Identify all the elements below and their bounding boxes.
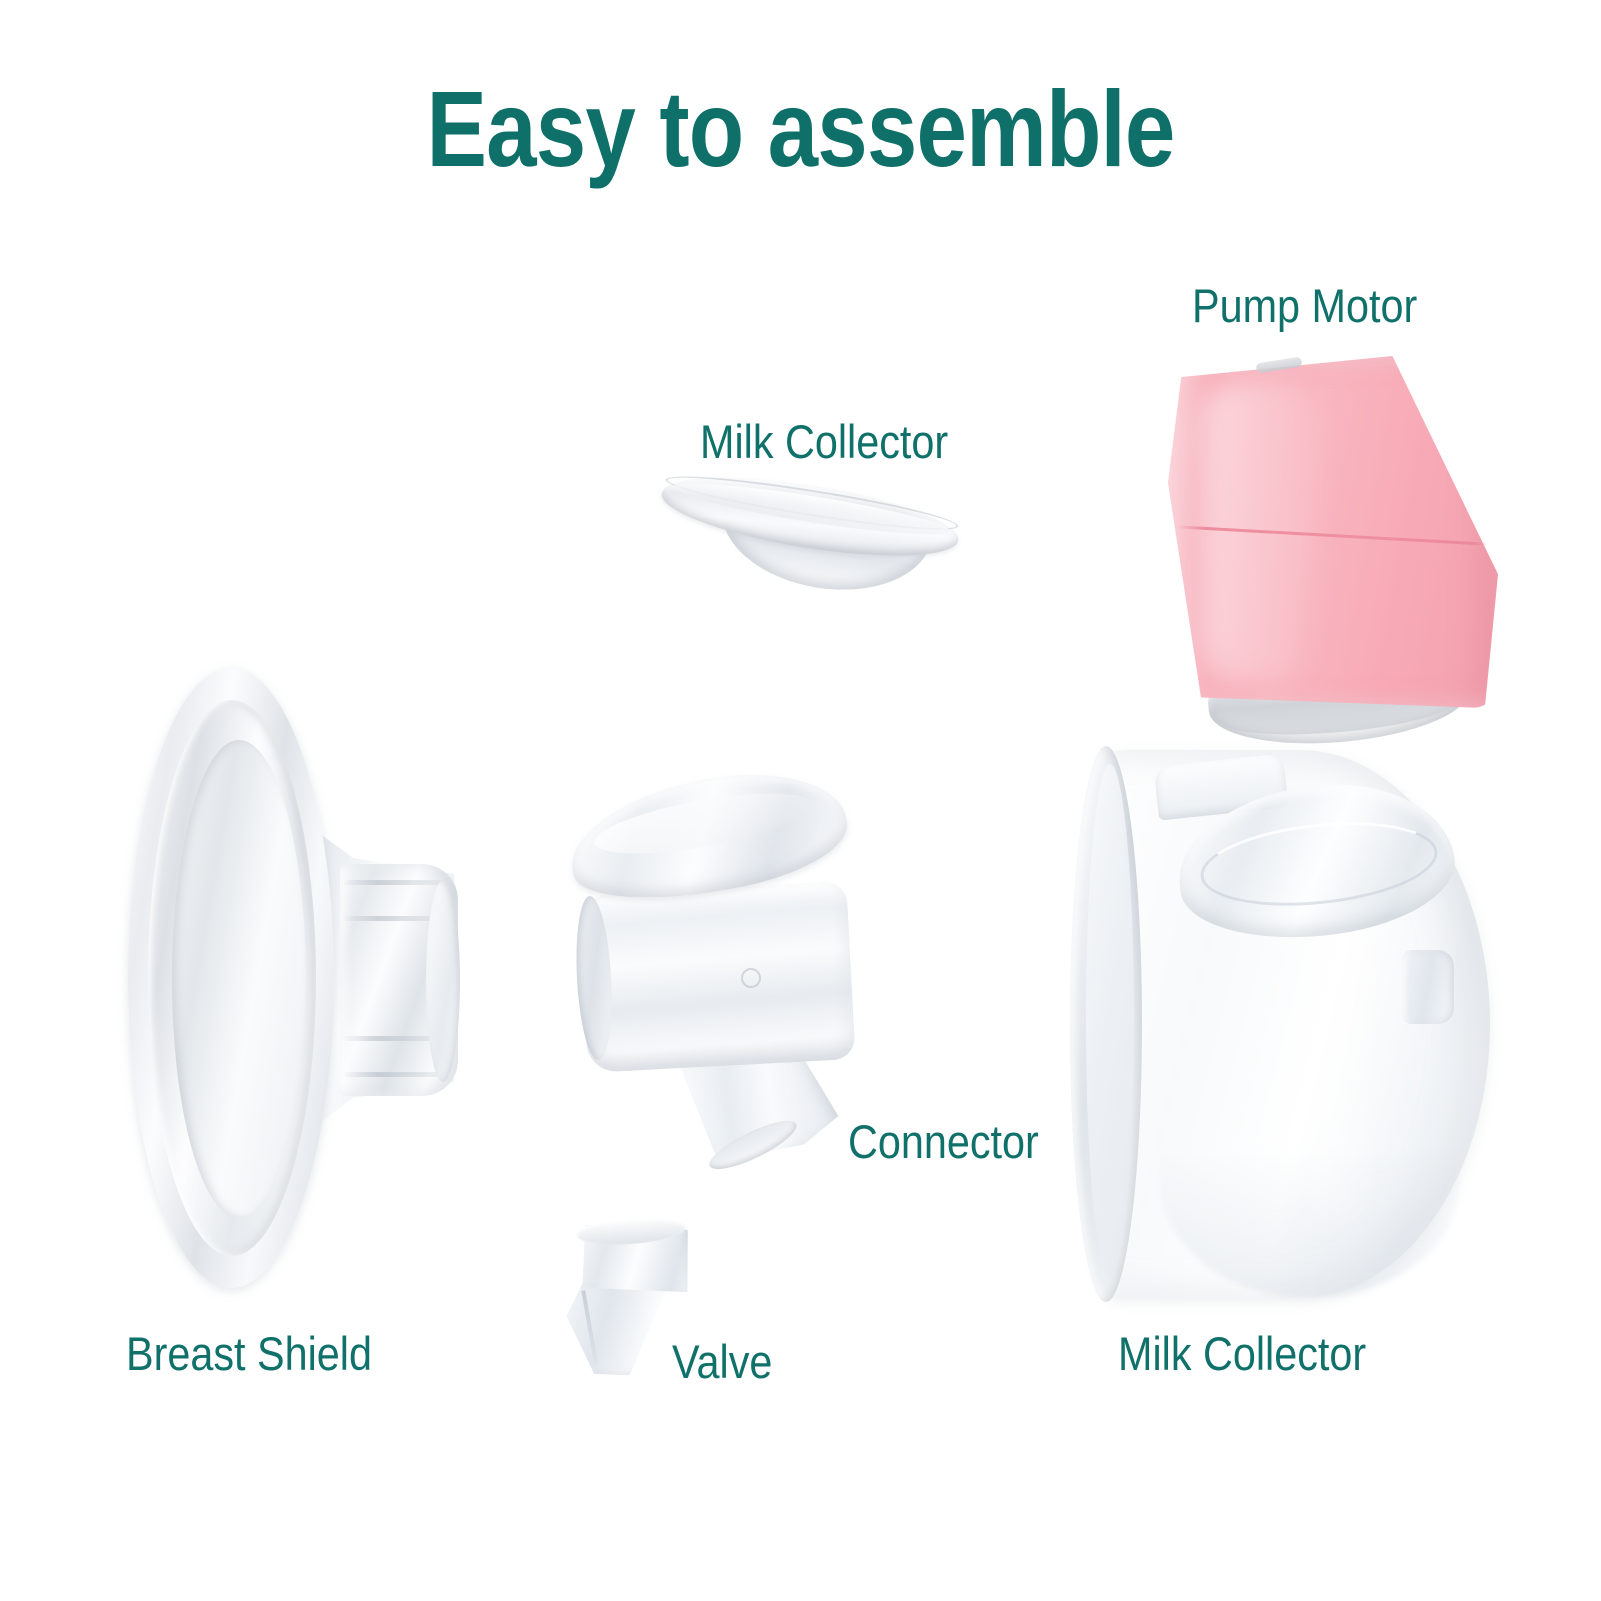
- label-pump-motor: Pump Motor: [1192, 282, 1417, 329]
- milk-collector-rim-inner: [1086, 764, 1134, 1276]
- milk-collector-lid-icon: [660, 470, 970, 610]
- milk-collector-port: [1402, 950, 1454, 1024]
- label-milk-collector-top: Milk Collector: [700, 418, 948, 465]
- breast-shield-neck-cap: [426, 880, 460, 1082]
- pump-motor-icon: [1160, 356, 1510, 756]
- milk-collector-cup-icon: [1060, 742, 1500, 1312]
- label-connector: Connector: [848, 1118, 1039, 1165]
- valve-duckbill: [555, 1276, 679, 1380]
- label-valve: Valve: [672, 1338, 772, 1385]
- breast-shield-flange-inner: [172, 740, 306, 1218]
- connector-body: [579, 881, 856, 1073]
- breast-shield-icon: [128, 668, 468, 1298]
- connector-icon: [555, 780, 885, 1170]
- page-title: Easy to assemble: [128, 72, 1473, 185]
- label-breast-shield: Breast Shield: [126, 1330, 372, 1377]
- connector-marking: [741, 968, 761, 988]
- label-milk-collector-bottom: Milk Collector: [1118, 1330, 1366, 1377]
- breast-shield-thread: [342, 880, 444, 885]
- breast-shield-thread: [342, 1072, 444, 1077]
- product-exploded-diagram: Easy to assemble Pump Motor Milk Collect…: [0, 0, 1601, 1601]
